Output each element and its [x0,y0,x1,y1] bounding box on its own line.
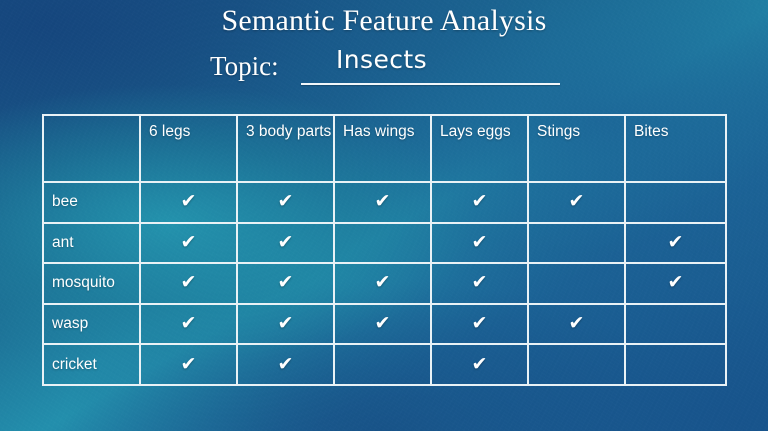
slide-canvas: Semantic Feature Analysis Topic: Insects… [0,0,768,431]
table-row: mosquito ✔ ✔ ✔ ✔ ✔ [43,263,726,304]
row-label-cricket: cricket [43,344,140,385]
cell-mosquito-3-body-parts[interactable]: ✔ [237,263,334,304]
cell-wasp-bites[interactable] [625,304,726,345]
cell-wasp-3-body-parts[interactable]: ✔ [237,304,334,345]
check-icon: ✔ [375,192,391,211]
cell-bee-has-wings[interactable]: ✔ [334,182,431,223]
check-icon: ✔ [278,273,294,292]
check-icon: ✔ [472,355,488,374]
column-header-bites: Bites [625,115,726,182]
cell-wasp-has-wings[interactable]: ✔ [334,304,431,345]
column-header-stings: Stings [528,115,625,182]
cell-mosquito-6-legs[interactable]: ✔ [140,263,237,304]
cell-cricket-6-legs[interactable]: ✔ [140,344,237,385]
check-icon: ✔ [181,314,197,333]
check-icon: ✔ [181,273,197,292]
cell-cricket-has-wings[interactable] [334,344,431,385]
row-label-mosquito: mosquito [43,263,140,304]
cell-cricket-lays-eggs[interactable]: ✔ [431,344,528,385]
cell-mosquito-bites[interactable]: ✔ [625,263,726,304]
cell-wasp-lays-eggs[interactable]: ✔ [431,304,528,345]
check-icon: ✔ [472,314,488,333]
cell-cricket-stings[interactable] [528,344,625,385]
check-icon: ✔ [472,192,488,211]
cell-bee-stings[interactable]: ✔ [528,182,625,223]
cell-bee-6-legs[interactable]: ✔ [140,182,237,223]
column-header-3-body-parts: 3 body parts [237,115,334,182]
check-icon: ✔ [569,192,585,211]
cell-ant-bites[interactable]: ✔ [625,223,726,264]
topic-value[interactable]: Insects [336,45,427,74]
check-icon: ✔ [278,192,294,211]
cell-ant-lays-eggs[interactable]: ✔ [431,223,528,264]
check-icon: ✔ [668,233,684,252]
cell-ant-3-body-parts[interactable]: ✔ [237,223,334,264]
check-icon: ✔ [278,355,294,374]
column-header-has-wings: Has wings [334,115,431,182]
table-row: ant ✔ ✔ ✔ ✔ [43,223,726,264]
check-icon: ✔ [375,273,391,292]
cell-cricket-bites[interactable] [625,344,726,385]
table-row: wasp ✔ ✔ ✔ ✔ ✔ [43,304,726,345]
cell-cricket-3-body-parts[interactable]: ✔ [237,344,334,385]
check-icon: ✔ [181,233,197,252]
table-corner-cell [43,115,140,182]
row-label-wasp: wasp [43,304,140,345]
table-row: bee ✔ ✔ ✔ ✔ ✔ [43,182,726,223]
page-title: Semantic Feature Analysis [0,4,768,38]
check-icon: ✔ [181,192,197,211]
check-icon: ✔ [569,314,585,333]
cell-bee-bites[interactable] [625,182,726,223]
cell-bee-lays-eggs[interactable]: ✔ [431,182,528,223]
cell-wasp-6-legs[interactable]: ✔ [140,304,237,345]
topic-label: Topic: [210,51,279,82]
table-row: cricket ✔ ✔ ✔ [43,344,726,385]
check-icon: ✔ [278,233,294,252]
topic-underline [301,83,560,85]
cell-bee-3-body-parts[interactable]: ✔ [237,182,334,223]
cell-wasp-stings[interactable]: ✔ [528,304,625,345]
column-header-6-legs: 6 legs [140,115,237,182]
check-icon: ✔ [472,273,488,292]
table-header-row: 6 legs 3 body parts Has wings Lays eggs … [43,115,726,182]
check-icon: ✔ [668,273,684,292]
cell-mosquito-stings[interactable] [528,263,625,304]
topic-row: Topic: Insects [0,47,768,87]
row-label-ant: ant [43,223,140,264]
cell-ant-stings[interactable] [528,223,625,264]
column-header-lays-eggs: Lays eggs [431,115,528,182]
cell-ant-6-legs[interactable]: ✔ [140,223,237,264]
cell-mosquito-has-wings[interactable]: ✔ [334,263,431,304]
cell-ant-has-wings[interactable] [334,223,431,264]
cell-mosquito-lays-eggs[interactable]: ✔ [431,263,528,304]
check-icon: ✔ [472,233,488,252]
check-icon: ✔ [278,314,294,333]
row-label-bee: bee [43,182,140,223]
check-icon: ✔ [181,355,197,374]
semantic-feature-table: 6 legs 3 body parts Has wings Lays eggs … [42,114,727,386]
check-icon: ✔ [375,314,391,333]
